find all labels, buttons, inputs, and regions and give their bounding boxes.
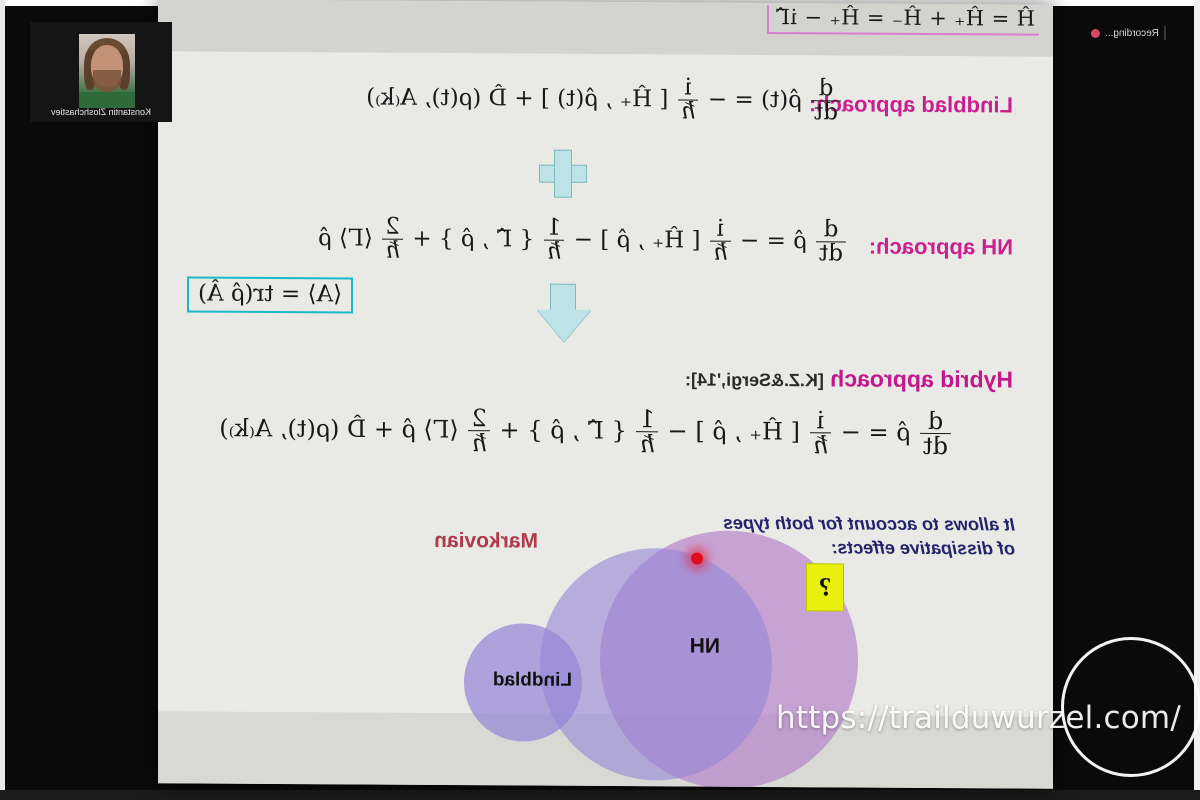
nh-eq: = <box>767 228 786 254</box>
lindblad-hplus: Ĥ₊ <box>620 86 652 112</box>
nh-brace-open: { <box>520 226 535 252</box>
hybrid-i-over-hbar: i ℏ <box>810 408 831 458</box>
lindblad-i: i <box>678 76 699 100</box>
hybrid-approach-citation: [K.Z.&Sergi,'14]: <box>685 369 824 390</box>
beard-shape <box>93 70 121 92</box>
venn-label-lindblad: Lindblad <box>493 669 572 691</box>
hybrid-comma2: , <box>572 416 580 444</box>
watermark-circle-icon <box>1061 637 1200 777</box>
hybrid-one-over-hbar: 1 ℏ <box>636 407 657 457</box>
video-frame: Ĥ = Ĥ₊ + Ĥ₋ = Ĥ₊ − iΓ̂ Lindblad approach… <box>0 0 1200 800</box>
lindblad-eq: = <box>734 87 753 113</box>
lindblad-bracket-close: ] <box>541 86 550 112</box>
nh-minus: − <box>740 228 759 254</box>
down-arrow-head <box>537 310 591 342</box>
hybrid-plus2: + <box>374 415 394 443</box>
recording-divider <box>1164 26 1166 40</box>
nh-minus2: − <box>574 227 593 253</box>
lindblad-dt: dt <box>811 101 841 126</box>
hybrid-d: d <box>920 409 951 434</box>
hybrid-approach-label: Hybrid approach <box>830 365 1013 392</box>
nh-approach-label: NH approach: <box>869 234 1013 261</box>
hybrid-bracket-close: ] <box>695 417 704 445</box>
plus-icon-vertical <box>554 150 572 198</box>
nh-i-over-hbar: i ℏ <box>710 218 731 266</box>
nh-two-over-hbar: 2 ℏ <box>382 216 403 264</box>
lindblad-rho: ρ̂(t) <box>761 87 802 113</box>
nh-hplus: Ĥ₊ <box>652 227 684 253</box>
recording-indicator[interactable]: Recording... <box>1091 26 1166 40</box>
nh-hbar2: ℏ <box>544 240 565 265</box>
hybrid-hbar3: ℏ <box>468 431 489 457</box>
nh-two: 2 <box>382 216 403 240</box>
frame-edge-bottom <box>0 790 1200 800</box>
lindblad-plus: + <box>514 85 533 111</box>
nh-gamma: Γ̂ <box>496 226 512 252</box>
plus-icon <box>541 150 587 196</box>
lindblad-hbar: ℏ <box>678 100 699 125</box>
lindblad-rho2: ρ̂(t) <box>557 86 598 112</box>
nh-one: 1 <box>544 217 565 241</box>
slide-content-mirrored: Ĥ = Ĥ₊ + Ĥ₋ = Ĥ₊ − iΓ̂ Lindblad approach… <box>158 0 1053 789</box>
screen: Ĥ = Ĥ₊ + Ĥ₋ = Ĥ₊ − iΓ̂ Lindblad approach… <box>0 0 1200 800</box>
nh-hbar3: ℏ <box>382 239 403 264</box>
nh-dt: dt <box>816 242 846 267</box>
nh-rho: ρ̂ <box>793 228 807 254</box>
hybrid-equation: d dt ρ̂ = − i ℏ [ Ĥ₊ , ρ̂ ] − <box>219 405 953 459</box>
nh-rho4: ρ̂ <box>318 225 332 251</box>
hybrid-dt: dt <box>920 433 951 459</box>
hybrid-plus: + <box>500 416 520 444</box>
participant-photo <box>79 34 135 108</box>
expectation-value-box: ⟨A⟩ = tr(ρ̂ Â) <box>187 276 353 313</box>
webcam-thumbnail[interactable]: Konstantin Zloshchastiev <box>30 22 172 122</box>
expectation-open: ⟨A⟩ = tr( <box>244 281 342 308</box>
laser-pointer-dot <box>691 553 703 565</box>
hybrid-minus2: − <box>668 417 688 445</box>
question-sticky-note: ? <box>806 563 844 611</box>
lindblad-d: d <box>811 77 841 101</box>
nh-rho2: ρ̂ <box>617 227 631 253</box>
lindblad-comma: , <box>605 86 612 112</box>
nh-d: d <box>816 218 846 242</box>
nh-rho3: ρ̂ <box>461 226 475 252</box>
hybrid-hplus: Ĥ₊ <box>749 417 783 445</box>
nh-brace-close: } <box>439 226 454 252</box>
hybrid-approach-heading: Hybrid approach [K.Z.&Sergi,'14]: <box>685 364 1013 393</box>
hybrid-two-over-hbar: 2 ℏ <box>468 406 489 456</box>
hybrid-brace-open: { <box>612 417 627 445</box>
hybrid-rho3: ρ̂ <box>550 416 564 444</box>
hybrid-two: 2 <box>468 406 489 431</box>
venn-diagram: Markovian NH Lindblad ? <box>338 520 858 788</box>
webcam-video-mirrored: Konstantin Zloshchastiev <box>30 22 172 122</box>
venn-label-nh: NH <box>690 635 720 659</box>
nh-comma: , <box>637 227 644 253</box>
venn-label-markovian: Markovian <box>434 529 538 554</box>
nh-equation: d dt ρ̂ = − i ℏ [ Ĥ₊ , ρ̂ ] − <box>318 215 848 266</box>
nh-gamma-avg: ⟨Γ⟩ <box>339 225 373 251</box>
participant-name-label: Konstantin Zloshchastiev <box>30 107 172 117</box>
nh-bracket-close: ] <box>600 227 609 253</box>
hybrid-brace-close: } <box>527 416 542 444</box>
down-arrow-icon <box>537 284 591 342</box>
top-equation: Ĥ = Ĥ₊ + Ĥ₋ = Ĥ₊ − iΓ̂ <box>767 5 1039 36</box>
hybrid-eq: = <box>868 418 888 446</box>
hybrid-hbar2: ℏ <box>636 432 657 458</box>
hybrid-rho4: ρ̂ <box>402 415 416 443</box>
recording-label: Recording... <box>1105 28 1159 39</box>
hybrid-hbar: ℏ <box>810 433 831 459</box>
lindblad-ddt: d dt <box>811 77 841 125</box>
nh-ddt: d dt <box>816 218 846 266</box>
hybrid-i: i <box>810 408 831 433</box>
expectation-close: ) <box>198 281 207 307</box>
lindblad-i-over-hbar: i ℏ <box>678 76 699 124</box>
hybrid-bracket-open: [ <box>791 418 800 446</box>
hybrid-one: 1 <box>636 407 657 432</box>
lindblad-bracket-open: [ <box>659 86 668 112</box>
down-arrow-shaft <box>550 284 576 313</box>
expectation-body: ρ̂ Â <box>207 281 244 307</box>
nh-hbar: ℏ <box>710 241 731 266</box>
hybrid-dissipator-args: (ρ(t), A₍k₎) <box>219 414 339 443</box>
nh-bracket-open: [ <box>692 227 701 253</box>
hybrid-ddt: d dt <box>920 409 951 459</box>
lindblad-minus: − <box>708 87 727 113</box>
nh-one-over-hbar: 1 ℏ <box>544 217 565 265</box>
hybrid-comma: , <box>734 417 742 445</box>
shirt-shape <box>79 92 135 108</box>
hybrid-rho: ρ̂ <box>896 418 910 446</box>
nh-plus: + <box>412 226 431 252</box>
frame-edge-left <box>0 0 5 800</box>
hybrid-dissipator: D̂ <box>347 415 366 443</box>
lindblad-dissipator-args: (ρ(t), A₍k₎) <box>366 84 481 111</box>
hybrid-minus: − <box>841 418 861 446</box>
hybrid-gamma: Γ̂ <box>587 416 604 444</box>
nh-i: i <box>710 218 731 242</box>
lindblad-dissipator: D̂ <box>489 85 507 111</box>
presentation-slide[interactable]: Ĥ = Ĥ₊ + Ĥ₋ = Ĥ₊ − iΓ̂ Lindblad approach… <box>158 0 1053 789</box>
record-dot-icon <box>1091 29 1100 38</box>
lindblad-equation: d dt ρ̂(t) = − i ℏ [ Ĥ₊ , ρ̂(t) ] + <box>366 75 843 126</box>
nh-comma2: , <box>482 226 489 252</box>
hybrid-gamma-avg: ⟨Γ⟩ <box>423 415 458 443</box>
hybrid-rho2: ρ̂ <box>712 417 726 445</box>
